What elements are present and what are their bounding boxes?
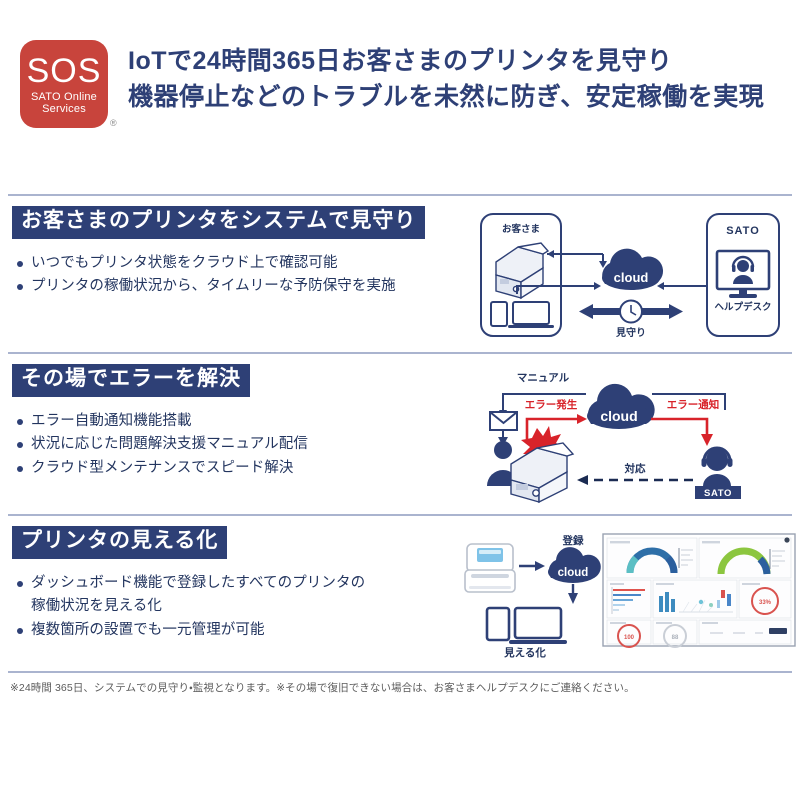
laptop-icon [508, 302, 554, 328]
response-arrow [577, 475, 693, 485]
headline-line-1: IoTで24時間365日お客さまのプリンタを見守り [128, 44, 794, 80]
divider-footer [8, 671, 792, 673]
section-watch-text: お客さまのプリンタをシステムで見守り いつでもプリンタ状態をクラウド上で確認可能… [12, 206, 452, 299]
ring-value-2: 100 [624, 635, 635, 641]
section-watch-diagram: お客さま [455, 206, 795, 346]
ring-value-3: 88 [672, 635, 679, 641]
visualize-flow-diagram: cloud 登録 見える化 [455, 526, 800, 658]
manual-label: マニュアル [517, 372, 570, 384]
logo-subtitle-line1: SATO Online [31, 92, 97, 103]
arrow-helpdesk-to-cloud [657, 282, 707, 290]
watch-flow-diagram: お客さま [455, 206, 795, 346]
desktop-printer-icon [465, 544, 515, 592]
registered-trademark-mark: ® [110, 118, 117, 128]
error-notify-arrow [651, 419, 713, 446]
visualize-label: 見える化 [503, 646, 546, 658]
list-item: 複数箇所の設置でも一元管理が可能 [16, 619, 452, 642]
footer-note: ※24時間 365日、システムでの見守り・監視となります。※その場で復旧できない… [10, 680, 790, 695]
section-resolve-title: その場でエラーを解決 [12, 364, 250, 397]
divider-1 [8, 194, 792, 196]
register-label: 登録 [562, 534, 584, 547]
tablet-icon [491, 302, 507, 326]
section-resolve-bullets: エラー自動通知機能搭載 状況に応じた問題解決支援マニュアル配信 クラウド型メンテ… [16, 410, 452, 480]
ring-value-1: 33% [759, 600, 772, 606]
headline-line-2: 機器停止などのトラブルを未然に防ぎ、安定稼働を実現 [128, 80, 794, 116]
watch-label: 見守り [615, 326, 646, 339]
section-visualize-text: プリンタの見える化 ダッシュボード機能で登録したすべてのプリンタの 稼働状況を見… [12, 526, 452, 642]
list-item: エラー自動通知機能搭載 [16, 410, 452, 433]
cloud-label: cloud [558, 567, 589, 579]
helpdesk-label: ヘルプデスク [714, 301, 771, 313]
section-visualize-bullets: ダッシュボード機能で登録したすべてのプリンタの 稼働状況を見える化 複数箇所の設… [16, 572, 452, 642]
list-item: ダッシュボード機能で登録したすべてのプリンタの [16, 572, 452, 595]
logo-subtitle-line2: Services [42, 104, 86, 115]
watch-double-arrow [579, 301, 683, 323]
list-item: 状況に応じた問題解決支援マニュアル配信 [16, 433, 452, 456]
mail-icon [490, 412, 517, 430]
customer-box-label: お客さま [502, 223, 540, 235]
arrow-cloud-to-devices [568, 584, 578, 604]
divider-3 [8, 514, 792, 516]
sato-operator-icon [702, 448, 733, 486]
arrow-printer-to-cloud [519, 561, 545, 571]
laptop-icon [509, 608, 567, 644]
section-watch-bullets: いつでもプリンタ状態をクラウド上で確認可能 プリンタの稼働状況から、タイムリーな… [16, 252, 452, 299]
sos-logo: SOS SATO Online Services [20, 40, 108, 128]
logo-sos-text: SOS [27, 54, 102, 88]
section-visualize-title: プリンタの見える化 [12, 526, 227, 559]
cloud-label: cloud [600, 408, 637, 424]
promo-page: SOS SATO Online Services ® IoTで24時間365日お… [0, 0, 800, 800]
list-item: クラウド型メンテナンスでスピード解決 [16, 457, 452, 480]
cloud-label: cloud [614, 270, 649, 285]
sato-label: SATO [704, 488, 732, 499]
headline-block: IoTで24時間365日お客さまのプリンタを見守り 機器停止などのトラブルを未然… [128, 44, 794, 115]
list-item: プリンタの稼働状況から、タイムリーな予防保守を実施 [16, 275, 452, 298]
section-visualize-diagram: cloud 登録 見える化 [455, 526, 795, 658]
response-label: 対応 [624, 462, 646, 475]
dashboard-menu-dot [784, 537, 789, 542]
error-notify-label: エラー通知 [667, 398, 720, 411]
section-watch-title: お客さまのプリンタをシステムで見守り [12, 206, 425, 239]
tablet-icon [487, 608, 509, 640]
page-header: SOS SATO Online Services ® IoTで24時間365日お… [0, 26, 800, 146]
section-resolve-text: その場でエラーを解決 エラー自動通知機能搭載 状況に応じた問題解決支援マニュアル… [12, 364, 452, 480]
printer-icon [511, 443, 573, 502]
list-item: いつでもプリンタ状態をクラウド上で確認可能 [16, 252, 452, 275]
error-occurred-label: エラー発生 [525, 398, 578, 411]
dashboard-preview: 33% 100 88 [603, 534, 795, 647]
section-resolve-diagram: cloud マニュアル [455, 364, 795, 504]
error-resolve-flow-diagram: cloud マニュアル [455, 364, 795, 504]
sato-box-label: SATO [726, 225, 760, 237]
list-item-continuation: 稼働状況を見える化 [16, 595, 452, 618]
divider-2 [8, 352, 792, 354]
